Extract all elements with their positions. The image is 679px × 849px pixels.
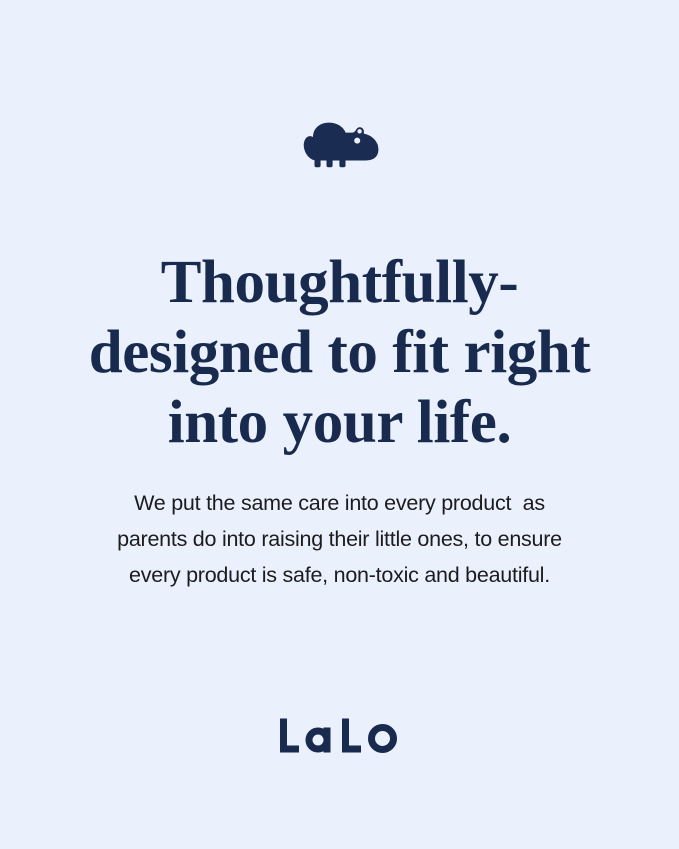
- lalo-wordmark: LALO: [277, 716, 403, 756]
- body-copy-line-2: parents do into raising their little one…: [80, 521, 599, 557]
- hippo-icon: Lalo hippo logo: [297, 118, 383, 172]
- body-copy-line-3: every product is safe, non-toxic and bea…: [80, 557, 599, 593]
- headline: Thoughtfully- designed to fit right into…: [0, 248, 679, 458]
- headline-line-2: designed to fit right: [55, 318, 624, 388]
- logo-alt-text: Lalo hippo logo: [297, 172, 298, 173]
- wordmark-text: LALO: [277, 756, 278, 757]
- headline-line-3: into your life.: [55, 388, 624, 458]
- body-copy-line-1: We put the same care into every product …: [80, 485, 599, 521]
- body-copy: We put the same care into every product …: [0, 485, 679, 593]
- brand-card: Lalo hippo logo Thoughtfully- designed t…: [0, 0, 679, 849]
- headline-line-1: Thoughtfully-: [55, 248, 624, 318]
